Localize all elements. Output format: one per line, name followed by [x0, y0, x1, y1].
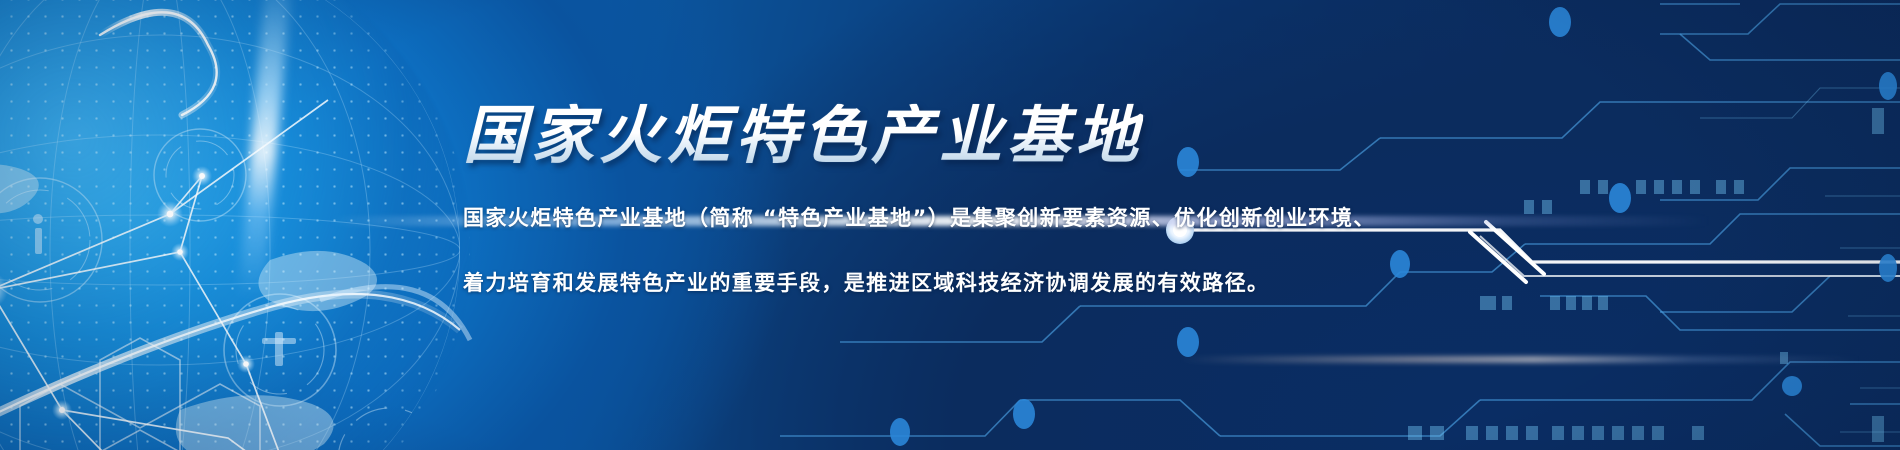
page-title: 国家火炬特色产业基地 [463, 104, 1143, 167]
description-line-2: 着力培育和发展特色产业的重要手段，是推进区域科技经济协调发展的有效路径。 [463, 273, 1863, 294]
banner-description: 国家火炬特色产业基地（简称 “特色产业基地”）是集聚创新要素资源、优化创新创业环… [463, 208, 1863, 294]
globe-overlay-svg [0, 0, 470, 450]
promo-banner: 国家火炬特色产业基地 国家火炬特色产业基地（简称 “特色产业基地”）是集聚创新要… [0, 0, 1900, 450]
globe-network-graphic [0, 0, 470, 450]
banner-content: 国家火炬特色产业基地 国家火炬特色产业基地（简称 “特色产业基地”）是集聚创新要… [455, 0, 1875, 450]
description-line-1: 国家火炬特色产业基地（简称 “特色产业基地”）是集聚创新要素资源、优化创新创业环… [463, 208, 1863, 229]
